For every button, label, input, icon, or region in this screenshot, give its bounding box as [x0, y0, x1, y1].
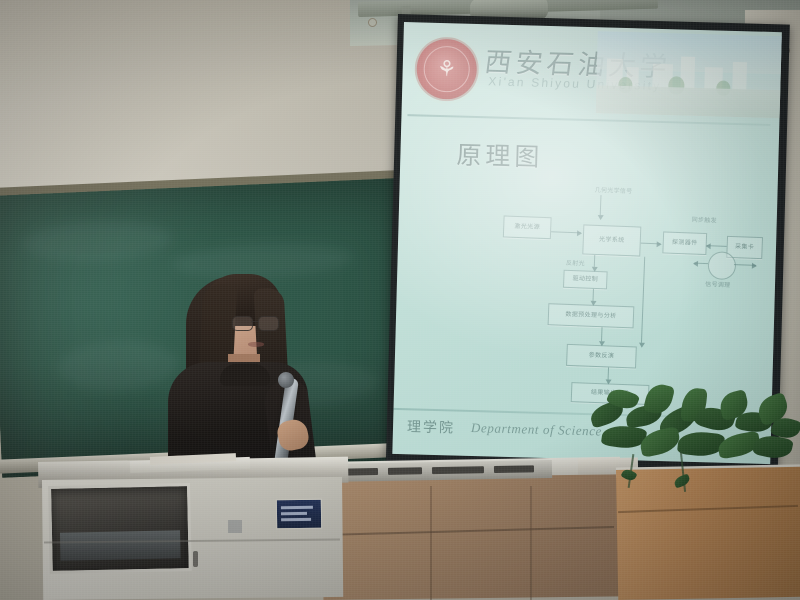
flow-arrow: [641, 243, 661, 245]
turtleneck-collar: [220, 364, 270, 386]
footer-department-cn: 理学院: [407, 416, 456, 437]
wall-hook-icon: [368, 18, 377, 27]
desk-front: [322, 474, 619, 600]
seal-glyph: ⚘: [423, 46, 470, 93]
desk-divider: [430, 486, 432, 600]
podium-monitor-screen[interactable]: [60, 530, 181, 561]
flowchart-circle-node: [707, 251, 736, 280]
potted-plants: [586, 378, 800, 470]
flow-arrow: [641, 257, 645, 343]
flowchart-side-label: 反射光: [566, 258, 585, 268]
campus-photo-banner: [596, 31, 782, 118]
podium-brand-mark: [228, 520, 242, 533]
flowchart-top-label: 几何光学信号: [595, 185, 633, 195]
flowchart-box: 激光光源: [503, 215, 552, 239]
mouth: [248, 342, 264, 347]
flow-arrow: [694, 263, 708, 265]
flowchart-box: 数据预处理与分析: [548, 303, 635, 328]
flowchart-side-label: 同步触发: [691, 214, 717, 224]
podium-monitor-recess: [48, 483, 192, 574]
flow-arrow: [600, 195, 602, 215]
flowchart-circle-label: 信号调理: [705, 279, 731, 289]
podium-handle[interactable]: [193, 551, 198, 567]
wooden-cabinet: [616, 467, 800, 600]
flow-arrow: [594, 255, 595, 267]
podium-control-label: [276, 499, 322, 530]
flowchart-box: 驱动控制: [563, 270, 608, 290]
flow-arrow: [593, 289, 594, 301]
flow-arrow: [707, 245, 727, 247]
flow-arrow: [551, 231, 581, 233]
glasses-icon: [232, 316, 280, 330]
university-seal-icon: ⚘: [414, 36, 480, 102]
presenter: [140, 272, 330, 472]
slide-title: 原理图: [456, 135, 544, 173]
flowchart-box: 参数反演: [566, 344, 637, 369]
desk-divider: [530, 486, 532, 600]
classroom-photo: ⚘ 西安石油大学 Xi'an Shiyou University 原理图: [0, 0, 800, 600]
flow-arrow: [601, 327, 603, 341]
flow-arrow: [734, 264, 756, 266]
flowchart-box: 光学系统: [582, 224, 641, 256]
slide-header: ⚘ 西安石油大学 Xi'an Shiyou University: [402, 22, 782, 120]
footer-department-en: Department of Science: [471, 420, 602, 440]
flowchart-box: 探测器件: [662, 231, 707, 255]
